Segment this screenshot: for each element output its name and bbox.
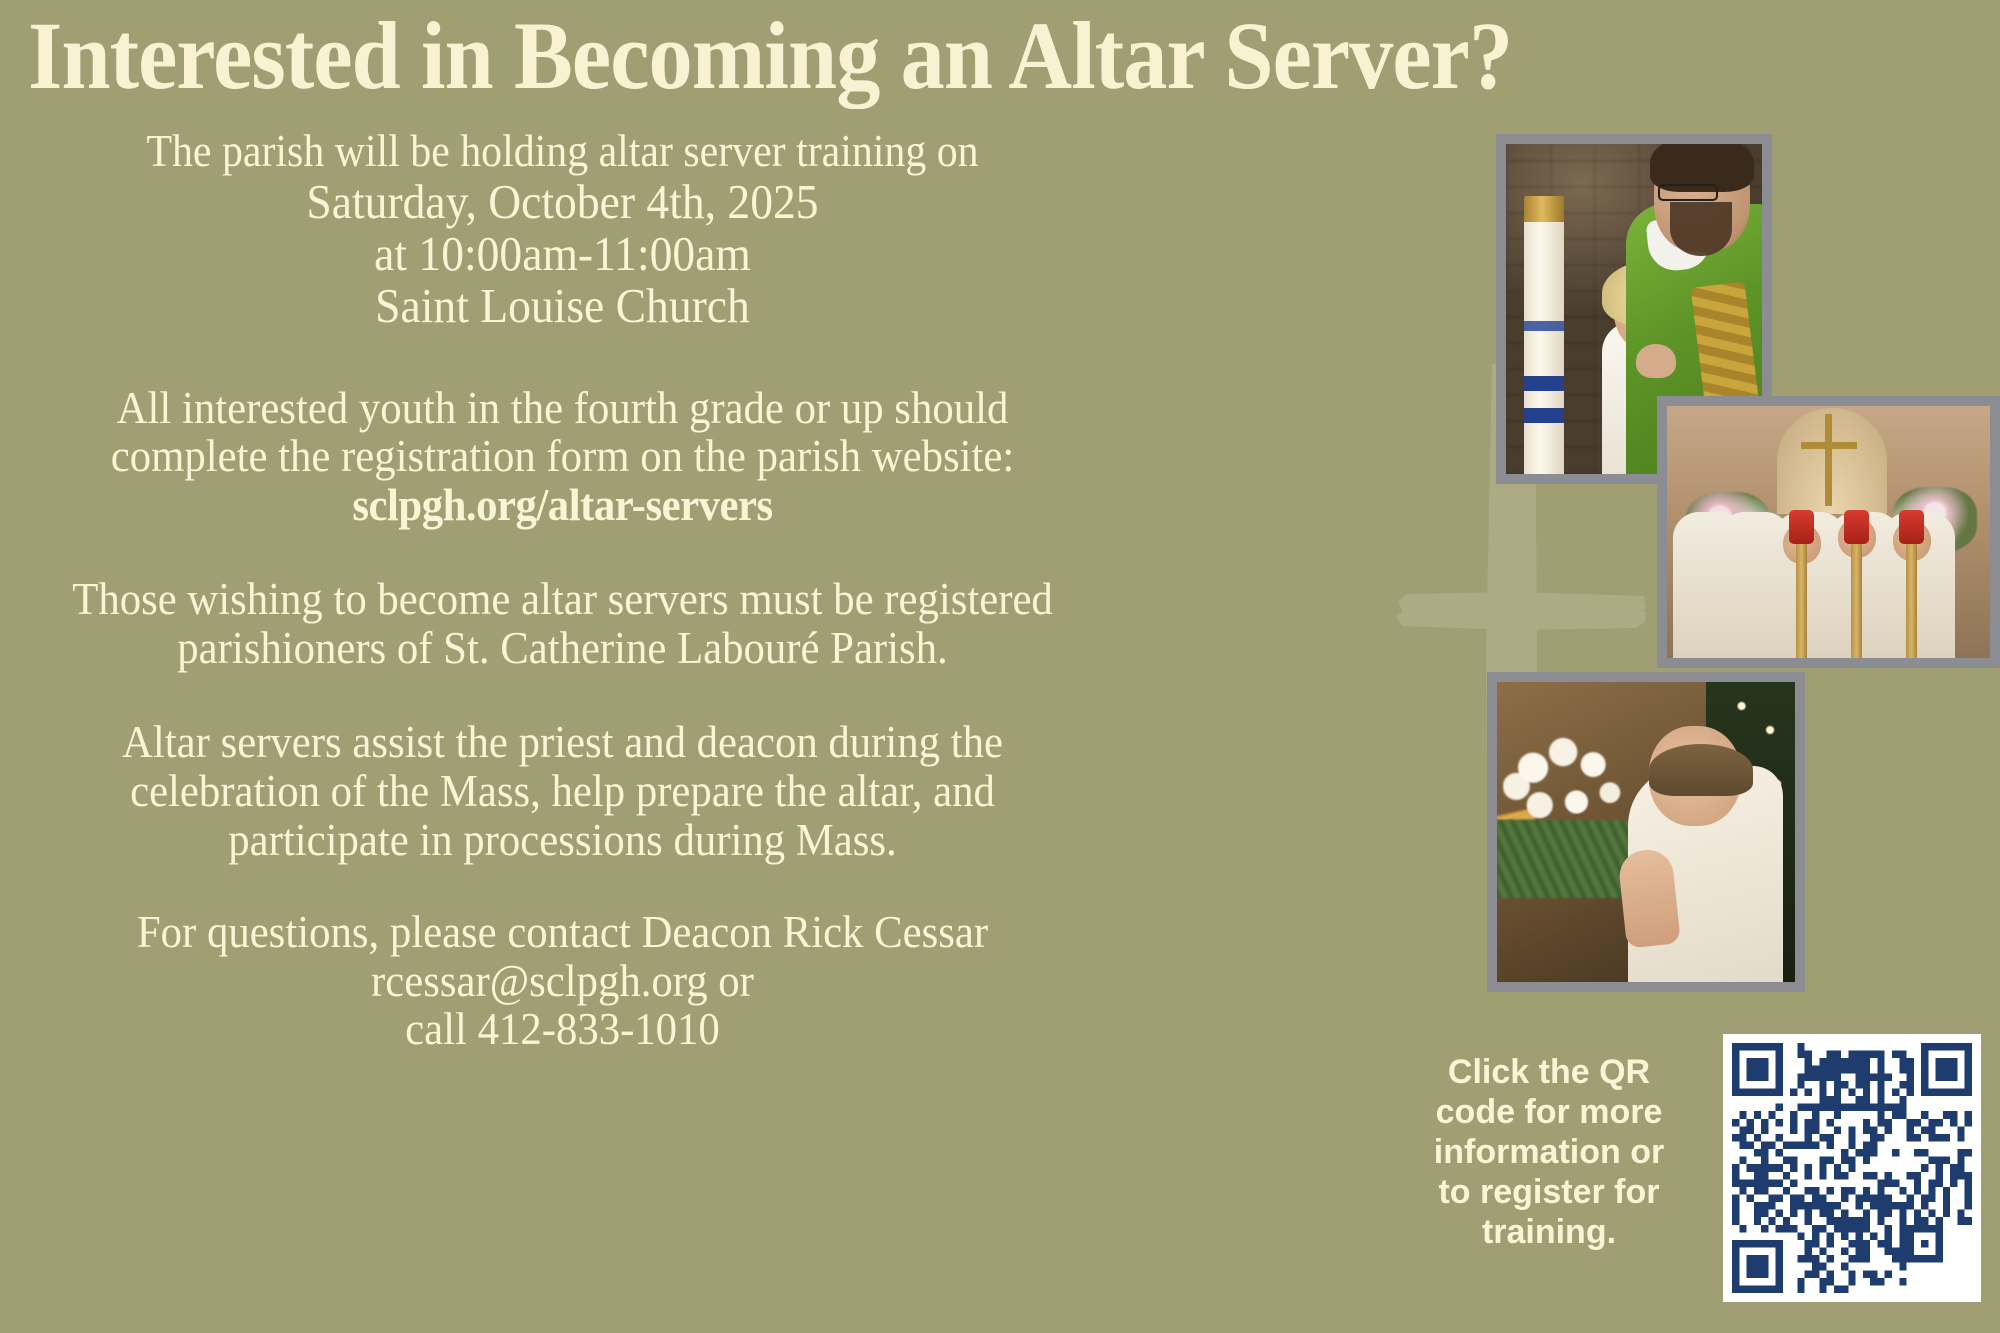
eligibility-line-1: Those wishing to become altar servers mu… <box>28 575 1097 624</box>
qr-caption-line-1: Click the QR <box>1418 1052 1680 1092</box>
registration-line-2: complete the registration form on the pa… <box>28 432 1097 481</box>
altar-server-procession-photo <box>1657 396 2000 668</box>
qr-caption-line-3: information or <box>1418 1132 1680 1172</box>
spacer <box>0 529 1125 575</box>
duties-line-2: celebration of the Mass, help prepare th… <box>28 767 1097 816</box>
eligibility-block: Those wishing to become altar servers mu… <box>28 575 1097 672</box>
qr-instruction-text: Click the QR code for more information o… <box>1418 1052 1680 1253</box>
spacer <box>0 332 1125 384</box>
registration-block: All interested youth in the fourth grade… <box>28 384 1097 530</box>
spacer <box>0 672 1125 718</box>
contact-phone[interactable]: call 412-833-1010 <box>28 1005 1097 1054</box>
page-title: Interested in Becoming an Altar Server? <box>28 8 1831 104</box>
training-location-line: Saint Louise Church <box>39 280 1085 332</box>
altar-server-flyer: Interested in Becoming an Altar Server? … <box>0 0 2000 1333</box>
contact-email[interactable]: rcessar@sclpgh.org or <box>28 957 1097 1006</box>
training-date-line: Saturday, October 4th, 2025 <box>39 176 1085 228</box>
training-time-line: at 10:00am-11:00am <box>39 228 1085 280</box>
duties-block: Altar servers assist the priest and deac… <box>28 718 1097 864</box>
qr-caption-line-4: to register for <box>1418 1172 1680 1212</box>
spacer <box>0 864 1125 908</box>
registration-line-1: All interested youth in the fourth grade… <box>28 384 1097 433</box>
flyer-body: The parish will be holding altar server … <box>0 128 1125 1054</box>
praying-altar-server-photo <box>1487 672 1805 992</box>
qr-caption-line-2: code for more <box>1418 1092 1680 1132</box>
qr-code[interactable] <box>1723 1034 1981 1302</box>
duties-line-1: Altar servers assist the priest and deac… <box>28 718 1097 767</box>
contact-line-1: For questions, please contact Deacon Ric… <box>28 908 1097 957</box>
paschal-candle <box>1524 196 1564 474</box>
qr-code-canvas[interactable] <box>1732 1043 1972 1293</box>
qr-caption-line-5: training. <box>1418 1212 1680 1252</box>
training-intro-line: The parish will be holding altar server … <box>39 128 1085 176</box>
eligibility-line-2: parishioners of St. Catherine Labouré Pa… <box>28 624 1097 673</box>
duties-line-3: participate in processions during Mass. <box>28 816 1097 865</box>
registration-url-link[interactable]: sclpgh.org/altar-servers <box>28 481 1097 530</box>
training-details-block: The parish will be holding altar server … <box>39 128 1085 332</box>
contact-block: For questions, please contact Deacon Ric… <box>28 908 1097 1054</box>
